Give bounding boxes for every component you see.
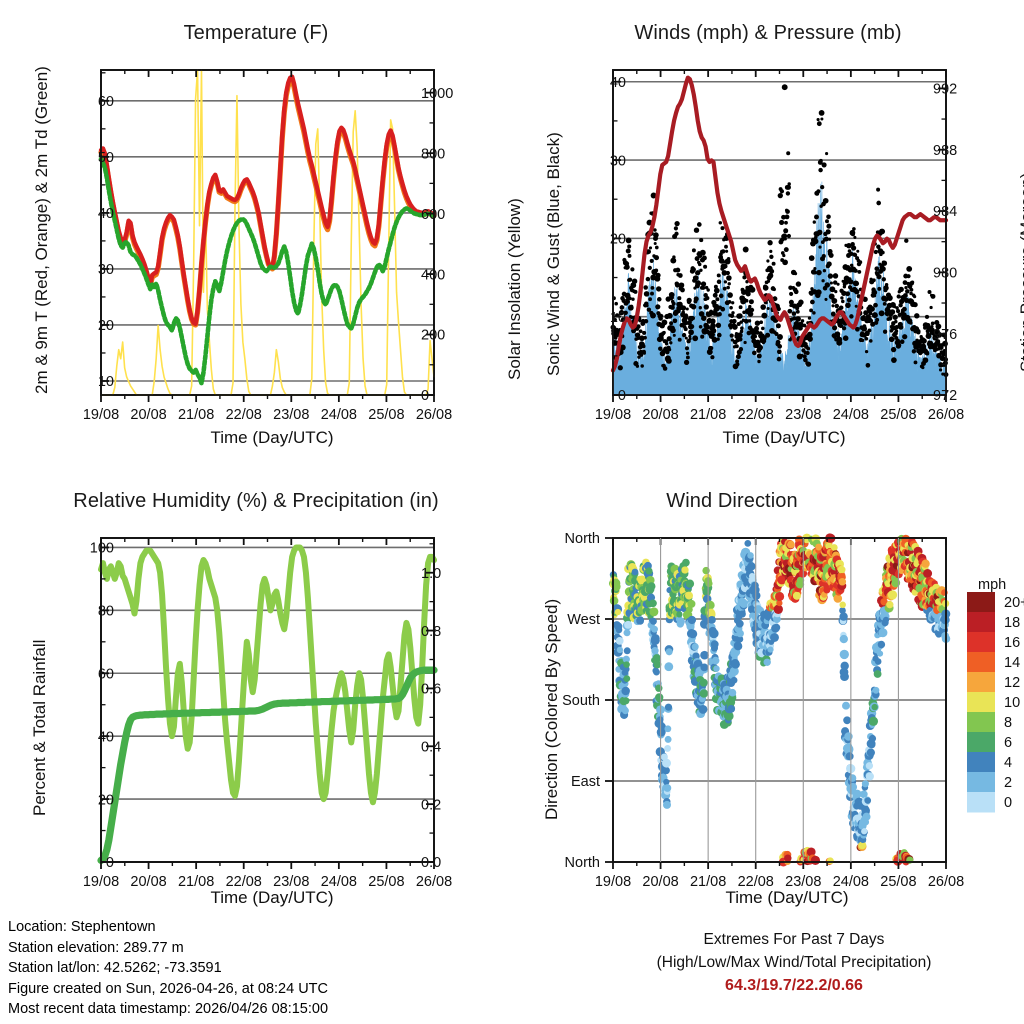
winds-chart-svg: 01020304097297698098498899219/0820/0821/… [512,0,1024,450]
y-tick-label: 0 [421,388,429,404]
extremes-summary: Extremes For Past 7 Days (High/Low/Max W… [584,928,1004,997]
x-tick-label: 20/08 [642,407,678,423]
y-tick-label: 10 [98,374,114,390]
panel-humidity-precip: Relative Humidity (%) & Precipitation (i… [0,450,512,920]
panel-temperature: Temperature (F) 102030405060020040060080… [0,0,512,450]
winds-xlabel: Time (Day/UTC) [624,428,944,448]
x-tick-label: 24/08 [321,407,357,423]
colorbar-band [967,592,995,613]
y-tick-label: 20 [98,792,114,808]
x-tick-label: 20/08 [130,407,166,423]
wind-direction-chart-svg: NorthWestSouthEastNorth19/0820/0821/0822… [512,450,1024,920]
y-tick-label-direction: North [565,855,600,871]
y-tick-label: 10 [610,310,626,326]
colorbar-tick-label: 12 [1004,675,1020,691]
y-tick-label: 0 [106,855,114,871]
x-tick-label: 21/08 [690,407,726,423]
temperature-chart-svg: 1020304050600200400600800100019/0820/082… [0,0,512,450]
colorbar-band [967,792,995,813]
x-tick-label: 22/08 [226,407,262,423]
meta-created: Figure created on Sun, 2026-04-26, at 08… [8,979,328,1000]
extremes-heading: Extremes For Past 7 Days [584,928,1004,951]
y-tick-label: 50 [98,150,114,166]
colorbar-band [967,772,995,793]
y-tick-label: 40 [98,729,114,745]
y-tick-label-direction: East [571,774,600,790]
colorbar-tick-label: 20+ [1004,595,1024,611]
series-solar-insolation [101,70,434,395]
colorbar-tick-label: 14 [1004,655,1020,671]
extremes-values: 64.3/19.7/22.2/0.66 [584,974,1004,997]
humidity-xlabel: Time (Day/UTC) [112,888,432,908]
y-tick-label: 60 [98,666,114,682]
y-tick-label: 30 [610,153,626,169]
panel-wind-direction-title: Wind Direction [512,490,952,513]
x-tick-label: 21/08 [178,407,214,423]
colorbar-tick-label: 16 [1004,635,1020,651]
y-tick-label: 600 [421,207,445,223]
colorbar-tick-label: 0 [1004,795,1012,811]
x-tick-label: 19/08 [595,407,631,423]
y-tick-label: 976 [933,327,957,343]
y-tick-label-direction: West [567,612,600,628]
meta-location: Location: Stephentown [8,917,328,938]
y-tick-label: 992 [933,82,957,98]
colorbar-band [967,732,995,753]
panel-winds-pressure: Winds (mph) & Pressure (mb) 010203040972… [512,0,1024,450]
colorbar-band [967,752,995,773]
x-tick-label: 23/08 [785,407,821,423]
series-sonic-wind [613,182,946,395]
colorbar-tick-label: 6 [1004,735,1012,751]
y-tick-label: 0.2 [421,797,441,813]
x-tick-label: 24/08 [833,407,869,423]
y-tick-label: 20 [610,232,626,248]
humidity-ylabel: Percent & Total Rainfall [30,640,50,816]
y-tick-label: 984 [933,204,957,220]
y-tick-label: 40 [610,75,626,91]
colorbar-unit-label: mph [978,577,1006,593]
y-tick-label: 0.4 [421,739,441,755]
y-tick-label: 0.6 [421,682,441,698]
x-tick-label: 25/08 [880,407,916,423]
y-tick-label: 980 [933,266,957,282]
wind-direction-xlabel: Time (Day/UTC) [622,888,952,908]
meta-latlon: Station lat/lon: 42.5262; -73.3591 [8,958,328,979]
colorbar-tick-label: 4 [1004,755,1012,771]
x-tick-label: 23/08 [273,407,309,423]
colorbar-band [967,612,995,633]
panel-temperature-title: Temperature (F) [0,22,512,45]
temperature-xlabel: Time (Day/UTC) [112,428,432,448]
y-tick-label: 400 [421,267,445,283]
y-tick-label: 60 [98,94,114,110]
colorbar-band [967,672,995,693]
plot-frame [101,70,434,395]
panel-winds-title: Winds (mph) & Pressure (mb) [512,22,1024,45]
x-tick-label: 25/08 [368,407,404,423]
humidity-chart-svg: 0204060801000.00.20.40.60.81.019/0820/08… [0,450,512,920]
series-total-rainfall [101,670,434,860]
x-tick-label: 26/08 [928,407,964,423]
x-tick-label: 26/08 [416,407,452,423]
panel-wind-direction: Wind Direction NorthWestSouthEastNorth19… [512,450,1024,920]
colorbar-tick-label: 8 [1004,715,1012,731]
y-tick-label: 200 [421,328,445,344]
colorbar-tick-label: 10 [1004,695,1020,711]
y-tick-label: 1000 [421,86,453,102]
y-tick-label: 800 [421,146,445,162]
y-tick-label: 20 [98,318,114,334]
wind-direction-ylabel: Direction (Colored By Speed) [542,599,562,820]
y-tick-label-direction: South [562,693,600,709]
y-tick-label: 30 [98,262,114,278]
meta-timestamp: Most recent data timestamp: 2026/04/26 0… [8,999,328,1020]
extremes-subheading: (High/Low/Max Wind/Total Precipitation) [584,951,1004,974]
x-tick-label: 19/08 [83,407,119,423]
colorbar-band [967,652,995,673]
y-tick-label-direction: North [565,531,600,547]
colorbar-band [967,692,995,713]
y-tick-label: 0.0 [421,855,441,871]
y-tick-label: 1.0 [421,566,441,582]
panel-humidity-title: Relative Humidity (%) & Precipitation (i… [0,490,512,513]
meta-elevation: Station elevation: 289.77 m [8,938,328,959]
colorbar-band [967,632,995,653]
colorbar-band [967,712,995,733]
y-tick-label: 40 [98,206,114,222]
y-tick-label: 80 [98,604,114,620]
series-relative-humidity [101,547,434,802]
plot-frame [101,70,434,395]
y-tick-label: 0.8 [421,624,441,640]
temperature-ylabel-left: 2m & 9m T (Red, Orange) & 2m Td (Green) [32,66,52,394]
colorbar-tick-label: 2 [1004,775,1012,791]
station-metadata: Location: Stephentown Station elevation:… [8,917,328,1020]
x-tick-label: 22/08 [738,407,774,423]
y-tick-label: 988 [933,143,957,159]
winds-ylabel-right: Station Pressure (Maroon) [1017,173,1024,372]
y-tick-label: 0 [618,388,626,404]
colorbar-tick-label: 18 [1004,615,1020,631]
winds-ylabel-left: Sonic Wind & Gust (Blue, Black) [544,132,564,376]
